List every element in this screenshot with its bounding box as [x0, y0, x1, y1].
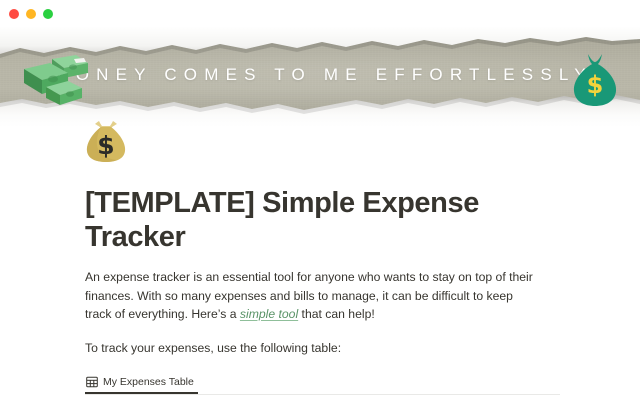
app-window: MONEY COMES TO ME EFFORTLESSLY $: [0, 0, 640, 400]
tab-label: My Expenses Table: [103, 376, 194, 388]
table-grid-icon: [86, 376, 98, 388]
traffic-light-buttons: [9, 9, 53, 19]
page-title: [TEMPLATE] Simple Expense Tracker: [85, 186, 555, 254]
money-bag-icon: $: [568, 50, 622, 108]
page-content: [TEMPLATE] Simple Expense Tracker An exp…: [0, 126, 640, 400]
instruction-paragraph: To track your expenses, use the followin…: [85, 339, 537, 358]
minimize-window-button[interactable]: [26, 9, 36, 19]
money-stack-icon: [16, 53, 90, 107]
page-cover-banner[interactable]: MONEY COMES TO ME EFFORTLESSLY $: [0, 27, 640, 126]
intro-paragraph: An expense tracker is an essential tool …: [85, 268, 537, 324]
intro-text-after-link: that can help!: [298, 307, 375, 321]
svg-text:$: $: [97, 131, 114, 160]
database-tab-bar: My Expenses Table: [85, 373, 560, 395]
banner-title: MONEY COMES TO ME EFFORTLESSLY: [0, 65, 640, 85]
window-titlebar: [0, 0, 640, 27]
svg-text:$: $: [587, 71, 604, 99]
zoom-window-button[interactable]: [43, 9, 53, 19]
tab-my-expenses-table[interactable]: My Expenses Table: [85, 373, 198, 394]
close-window-button[interactable]: [9, 9, 19, 19]
page-icon-money-bag[interactable]: $: [82, 117, 130, 165]
simple-tool-link[interactable]: simple tool: [240, 307, 298, 321]
